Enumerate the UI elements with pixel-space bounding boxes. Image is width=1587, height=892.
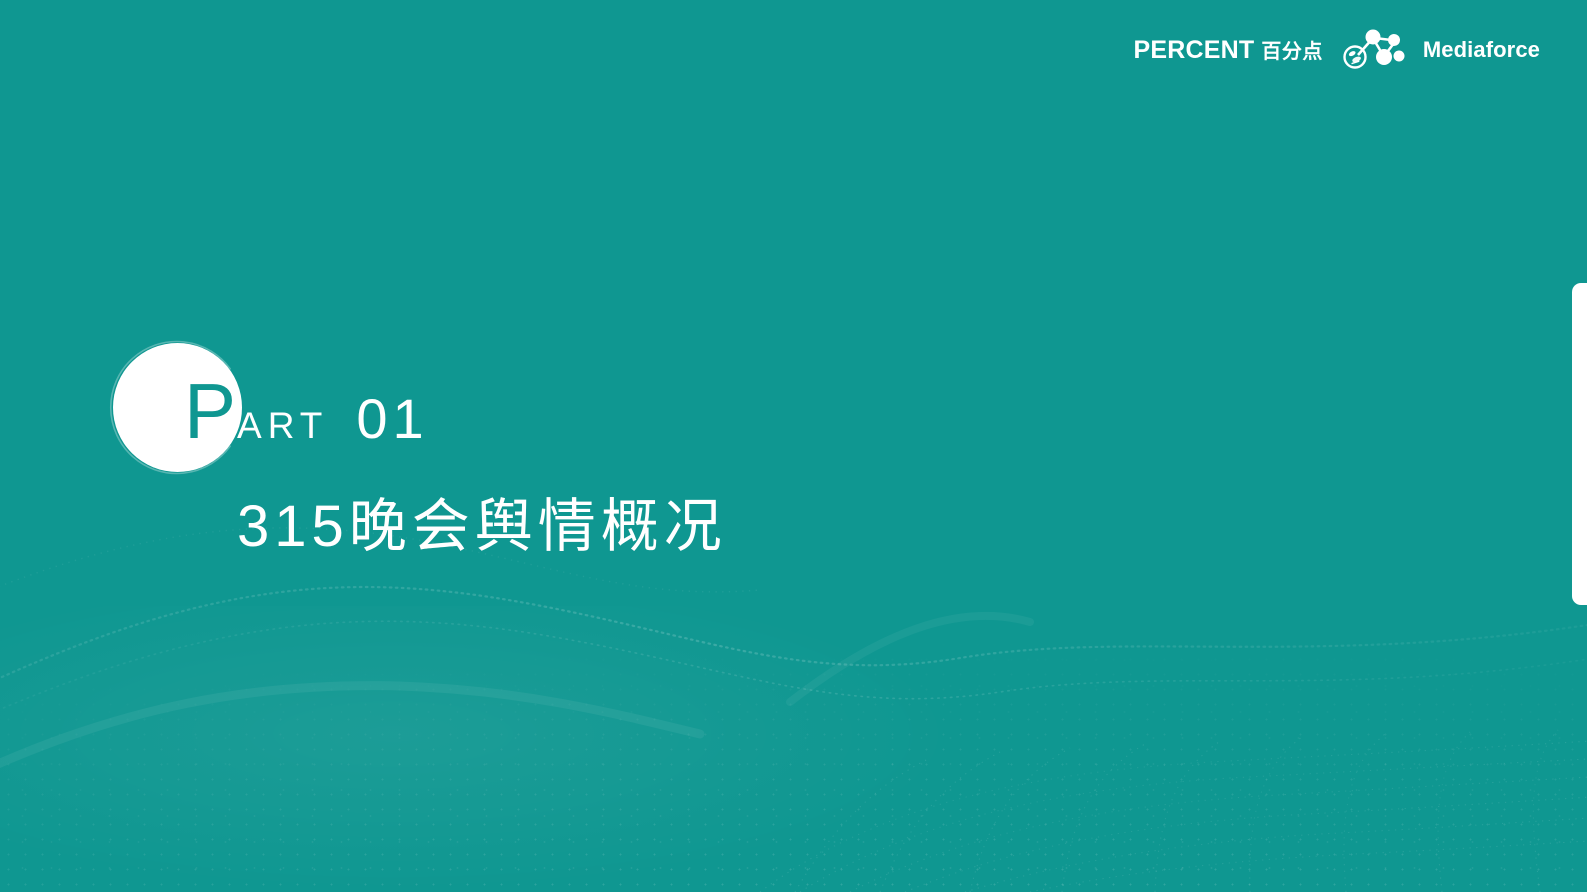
- vertical-scrollbar-thumb[interactable]: [1572, 283, 1587, 605]
- brand-lockup: PERCENT 百分点 Mediaforce: [1133, 26, 1540, 74]
- percent-logo: PERCENT 百分点: [1133, 38, 1322, 63]
- part-title: 315晚会舆情概况: [237, 495, 727, 559]
- vertical-scrollbar-track[interactable]: [1572, 0, 1587, 892]
- part-label: P ART 01: [184, 372, 429, 450]
- part-word-remainder: ART: [237, 407, 328, 444]
- slide-canvas: PERCENT 百分点 Mediaforce: [0, 0, 1587, 892]
- part-initial-letter: P: [184, 372, 236, 450]
- background-glow: [0, 606, 1270, 892]
- mediaforce-logo-text: Mediaforce: [1423, 39, 1540, 61]
- part-number: 01: [356, 391, 428, 447]
- molecule-network-logo-icon: [1339, 28, 1407, 72]
- percent-logo-cn: 百分点: [1261, 42, 1323, 62]
- part-section: P ART 01 315晚会舆情概况: [99, 330, 859, 600]
- background-dot-field: [0, 562, 1587, 892]
- percent-logo-en: PERCENT: [1133, 38, 1254, 63]
